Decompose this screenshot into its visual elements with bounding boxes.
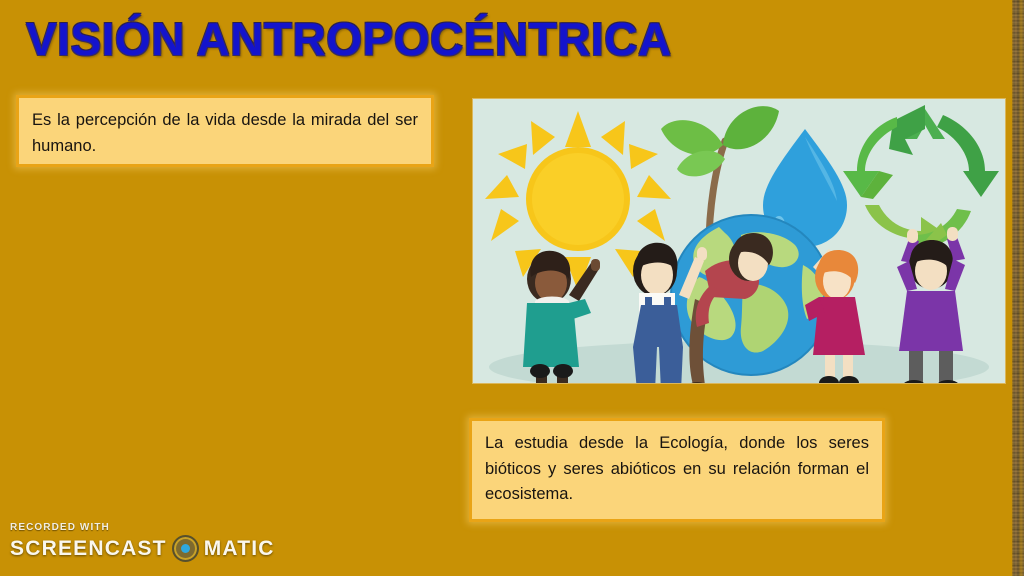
watermark-recorded-label: RECORDED WITH [10, 522, 275, 533]
watermark-brand-first: SCREENCAST [10, 537, 167, 561]
callout-definition: Es la percepción de la vida desde la mir… [16, 95, 434, 167]
watermark-brand: SCREENCAST MATIC [10, 535, 275, 562]
illustration-svg [473, 99, 1005, 383]
presentation-slide: VISIÓN ANTROPOCÉNTRICA Es la percepción … [0, 0, 1024, 576]
screencast-o-matic-logo-icon [172, 535, 199, 562]
screencast-watermark: RECORDED WITH SCREENCAST MATIC [10, 522, 275, 562]
callout-ecology: La estudia desde la Ecología, donde los … [469, 418, 885, 522]
recycle-icon [843, 105, 999, 253]
video-edge-artifact [1012, 0, 1024, 576]
page-title: VISIÓN ANTROPOCÉNTRICA [26, 12, 672, 66]
watermark-brand-second: MATIC [204, 537, 275, 561]
environment-illustration [473, 99, 1005, 383]
